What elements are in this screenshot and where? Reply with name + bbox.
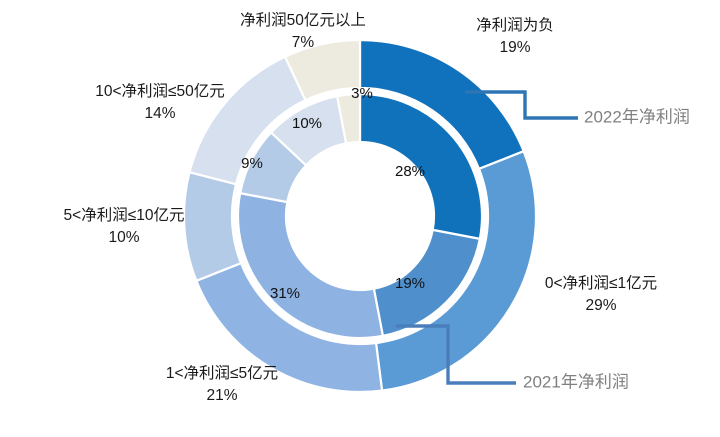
- inner-slice-percent-label: 19%: [395, 275, 425, 292]
- outer-slice-category-label: 0<净利润≤1亿元: [545, 274, 657, 292]
- outer-slice-category-label: 净利润为负: [476, 16, 554, 34]
- outer-slice-percent-label: 29%: [585, 297, 616, 314]
- inner-slice-percent-label: 10%: [292, 115, 322, 132]
- donut-chart-container: 净利润为负19%0<净利润≤1亿元29%1<净利润≤5亿元21%5<净利润≤10…: [0, 0, 720, 432]
- outer-slice-category-label: 10<净利润≤50亿元: [95, 82, 225, 100]
- outer-slice-category-label: 净利润50亿元以上: [240, 11, 366, 29]
- inner-slice-percent-label: 9%: [241, 155, 263, 172]
- outer-slice-percent-label: 14%: [144, 105, 175, 122]
- donut-segment[interactable]: [184, 172, 241, 281]
- outer-slice-percent-label: 10%: [108, 229, 139, 246]
- outer-slice-category-label: 1<净利润≤5亿元: [166, 364, 278, 382]
- legend-label-2021: 2021年净利润: [523, 372, 629, 391]
- nested-donut-chart: 净利润为负19%0<净利润≤1亿元29%1<净利润≤5亿元21%5<净利润≤10…: [0, 0, 720, 432]
- outer-slice-category-label: 5<净利润≤10亿元: [64, 206, 185, 224]
- outer-slice-percent-label: 7%: [292, 34, 315, 51]
- inner-slice-percent-label: 3%: [351, 85, 373, 102]
- outer-slice-percent-label: 19%: [499, 39, 530, 56]
- inner-slice-percent-label: 28%: [395, 163, 425, 180]
- inner-slice-percent-label: 31%: [270, 285, 300, 302]
- outer-slice-percent-label: 21%: [206, 387, 237, 404]
- legend-label-2022: 2022年净利润: [584, 107, 690, 126]
